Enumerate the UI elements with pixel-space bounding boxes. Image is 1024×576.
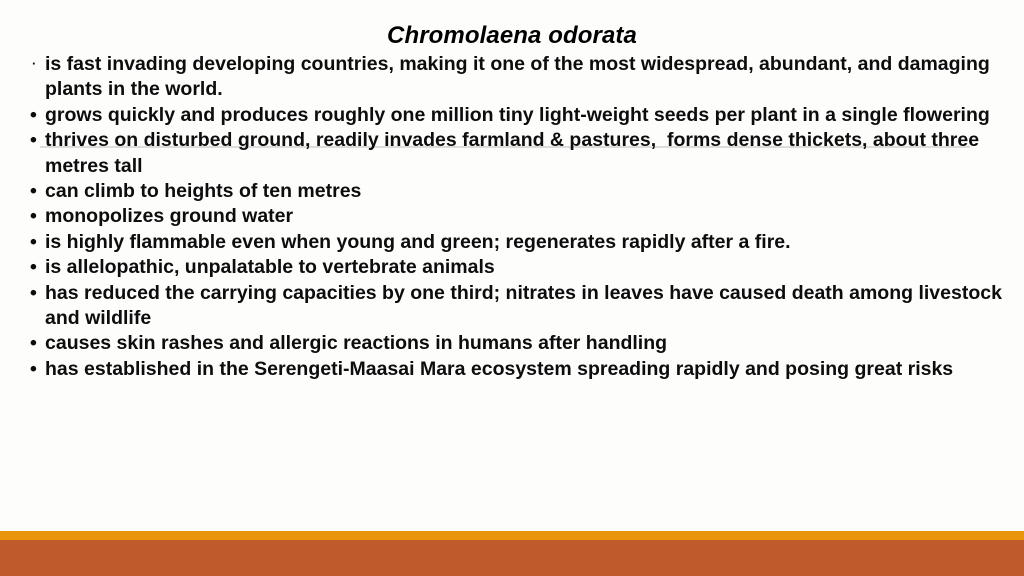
list-item: •has reduced the carrying capacities by … bbox=[28, 281, 1003, 332]
list-item: •can climb to heights of ten metres bbox=[28, 179, 1003, 204]
list-item-label: is allelopathic, unpalatable to vertebra… bbox=[45, 256, 495, 278]
list-item: •monopolizes ground water bbox=[28, 204, 1003, 229]
bullet-marker-icon: • bbox=[30, 230, 44, 255]
bullet-marker-icon: • bbox=[30, 179, 44, 204]
list-item-label: has established in the Serengeti-Maasai … bbox=[45, 358, 953, 380]
list-item: •has established in the Serengeti-Maasai… bbox=[28, 357, 1003, 382]
bullet-marker-icon: · bbox=[32, 51, 46, 76]
page-title: Chromolaena odorata bbox=[0, 22, 1024, 50]
list-item: •grows quickly and produces roughly one … bbox=[28, 103, 1003, 128]
list-item-label: monopolizes ground water bbox=[45, 205, 293, 227]
list-item-label: has reduced the carrying capacities by o… bbox=[45, 282, 1007, 329]
bullet-marker-icon: • bbox=[30, 331, 44, 356]
list-item: •causes skin rashes and allergic reactio… bbox=[28, 331, 1003, 356]
bullet-marker-icon: • bbox=[30, 255, 44, 280]
bullet-marker-icon: • bbox=[30, 103, 44, 128]
list-item-label: grows quickly and produces roughly one m… bbox=[45, 104, 990, 126]
footer-band-orange bbox=[0, 531, 1024, 540]
bullet-marker-icon: • bbox=[30, 357, 44, 382]
list-item-label: can climb to heights of ten metres bbox=[45, 180, 361, 202]
bullet-list: ·is fast invading developing countries, … bbox=[28, 52, 1003, 382]
list-item: •is highly flammable even when young and… bbox=[28, 230, 1003, 255]
bullet-marker-icon: • bbox=[30, 281, 44, 306]
list-item-label: is fast invading developing countries, m… bbox=[45, 53, 995, 100]
list-item: ·is fast invading developing countries, … bbox=[28, 52, 1003, 103]
presentation-slide: Chromolaena odorata ·is fast invading de… bbox=[0, 0, 1024, 576]
list-item-label: is highly flammable even when young and … bbox=[45, 231, 791, 253]
bullet-marker-icon: • bbox=[30, 204, 44, 229]
bullet-marker-icon: • bbox=[30, 128, 44, 153]
list-item-label: causes skin rashes and allergic reaction… bbox=[45, 332, 667, 354]
list-item-label: thrives on disturbed ground, readily inv… bbox=[45, 129, 984, 176]
list-item: •thrives on disturbed ground, readily in… bbox=[28, 128, 1003, 179]
footer-band-terracotta bbox=[0, 540, 1024, 576]
list-item: •is allelopathic, unpalatable to vertebr… bbox=[28, 255, 1003, 280]
